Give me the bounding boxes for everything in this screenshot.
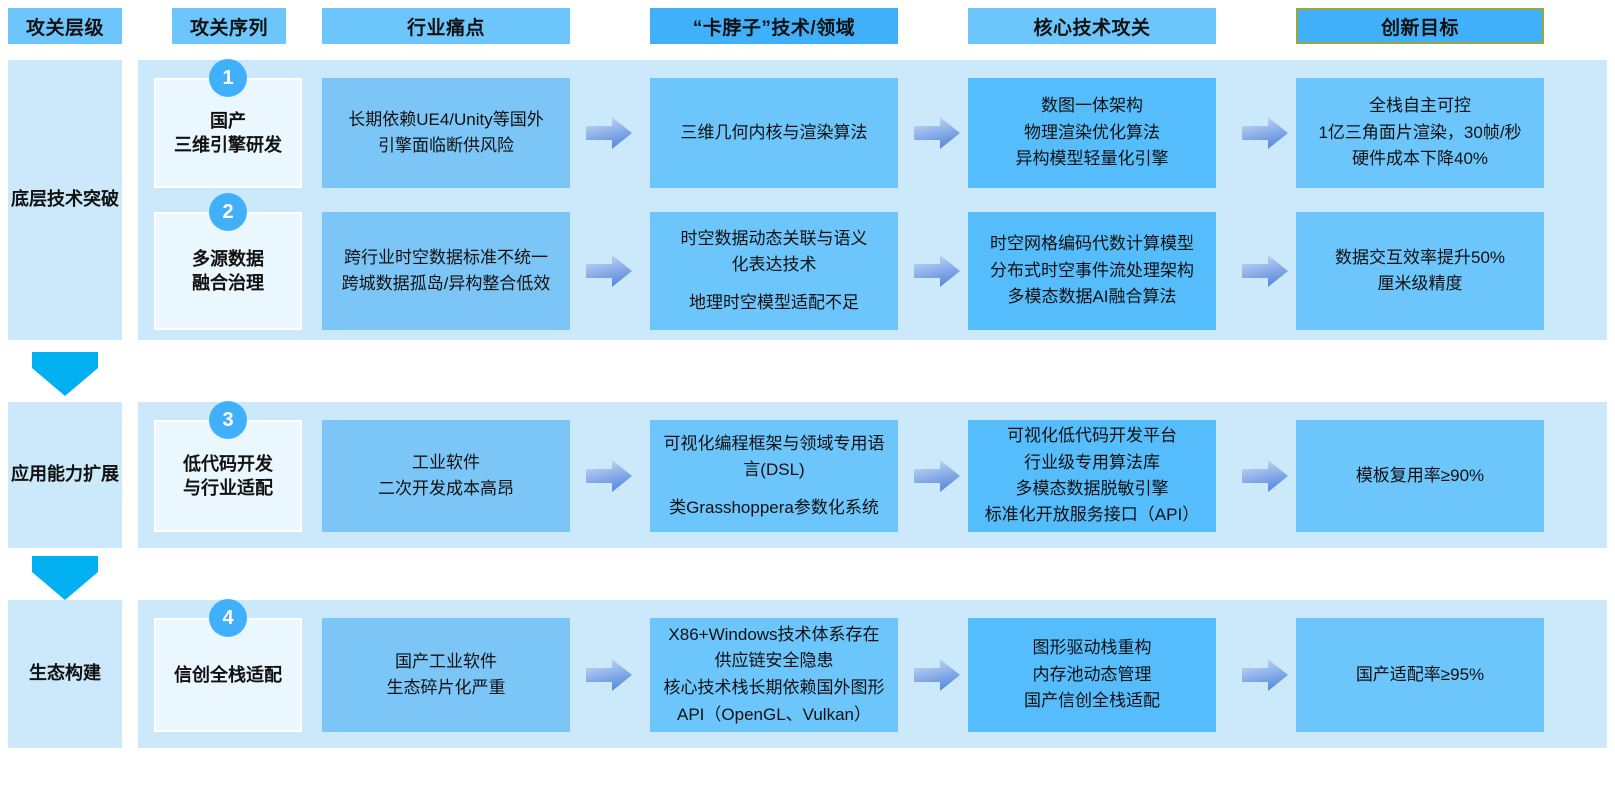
level-label-2: 应用能力扩展 [8, 402, 122, 548]
level-label-line: 底层技术 [11, 188, 83, 211]
sequence-card-label: 多源数据融合治理 [192, 247, 264, 296]
text-line: 物理渲染优化算法 [1024, 120, 1160, 146]
right-arrow-icon [914, 254, 960, 288]
text-line: 地理时空模型适配不足 [689, 290, 859, 316]
text-line: 信创全栈适配 [174, 663, 282, 687]
pain-point-box-2[interactable]: 跨行业时空数据标准不统一跨城数据孤岛/异构整合低效 [322, 212, 570, 330]
header-row: 攻关层级 攻关序列 行业痛点 “卡脖子”技术/领域 核心技术攻关 创新目标 [0, 0, 1615, 52]
text-line: 异构模型轻量化引擎 [1016, 146, 1169, 172]
level-label-1: 底层技术突破 [8, 60, 122, 340]
text-line: 低代码开发 [183, 452, 273, 476]
bottleneck-box-1[interactable]: 三维几何内核与渲染算法 [650, 78, 898, 188]
text-line: 数据交互效率提升50% [1335, 245, 1505, 271]
innovation-goal-box-2[interactable]: 数据交互效率提升50%厘米级精度 [1296, 212, 1544, 330]
text-line: 多源数据 [192, 247, 264, 271]
level-label-3: 生态构建 [8, 600, 122, 748]
text-line: 内存池动态管理 [1033, 662, 1152, 688]
core-tech-box-3[interactable]: 可视化低代码开发平台行业级专用算法库多模态数据脱敏引擎标准化开放服务接口（API… [968, 420, 1216, 532]
down-arrow-icon [32, 352, 98, 396]
right-arrow-icon [1242, 254, 1288, 288]
right-arrow-icon [1242, 459, 1288, 493]
level-label-line: 生态构建 [29, 662, 101, 685]
right-arrow-icon [914, 116, 960, 150]
level-label-line: 应用能力 [11, 463, 83, 486]
text-line: 核心技术栈长期依赖国外图形 [664, 675, 885, 701]
innovation-goal-box-1[interactable]: 全栈自主可控1亿三角面片渲染，30帧/秒硬件成本下降40% [1296, 78, 1544, 188]
text-line: 与行业适配 [183, 476, 273, 500]
level-label-line: 扩展 [83, 463, 119, 486]
header-bottleneck-tech: “卡脖子”技术/领域 [650, 8, 898, 44]
text-line: 厘米级精度 [1378, 271, 1463, 297]
text-line: 工业软件 [412, 450, 480, 476]
right-arrow-icon [914, 459, 960, 493]
text-line: 时空数据动态关联与语义 [681, 226, 868, 252]
step-number-badge-1: 1 [209, 59, 247, 97]
text-line: 分布式时空事件流处理架构 [990, 258, 1194, 284]
step-number-badge-4: 4 [209, 599, 247, 637]
bottleneck-box-2[interactable]: 时空数据动态关联与语义化表达技术地理时空模型适配不足 [650, 212, 898, 330]
text-line: 类Grasshoppera参数化系统 [669, 495, 879, 521]
text-line: 引擎面临断供风险 [378, 133, 514, 159]
text-line: 时空网格编码代数计算模型 [990, 231, 1194, 257]
text-line: 生态碎片化严重 [387, 675, 506, 701]
text-line: X86+Windows技术体系存在 [668, 622, 879, 648]
diagram-canvas: 攻关层级 攻关序列 行业痛点 “卡脖子”技术/领域 核心技术攻关 创新目标 底层… [0, 0, 1615, 791]
right-arrow-icon [586, 254, 632, 288]
pain-point-box-1[interactable]: 长期依赖UE4/Unity等国外引擎面临断供风险 [322, 78, 570, 188]
text-line: 模板复用率≥90% [1356, 463, 1484, 489]
text-line: 标准化开放服务接口（API） [985, 502, 1199, 528]
text-line: 硬件成本下降40% [1352, 146, 1488, 172]
text-line: 二次开发成本高昂 [378, 476, 514, 502]
bottleneck-box-3[interactable]: 可视化编程框架与领域专用语言(DSL)类Grasshoppera参数化系统 [650, 420, 898, 532]
text-line: 长期依赖UE4/Unity等国外 [348, 107, 544, 133]
text-line: 国产 [174, 109, 282, 133]
text-line: 国产工业软件 [395, 649, 497, 675]
header-innovation-goal: 创新目标 [1296, 8, 1544, 44]
level-label-line: 突破 [83, 188, 119, 211]
text-line: 多模态数据脱敏引擎 [1016, 476, 1169, 502]
bottleneck-box-4[interactable]: X86+Windows技术体系存在供应链安全隐患核心技术栈长期依赖国外图形API… [650, 618, 898, 732]
text-line: 国产信创全栈适配 [1024, 688, 1160, 714]
text-line: 可视化低代码开发平台 [1007, 423, 1177, 449]
sequence-card-label: 国产三维引擎研发 [174, 109, 282, 158]
text-line: 三维几何内核与渲染算法 [681, 120, 868, 146]
right-arrow-icon [1242, 658, 1288, 692]
text-line: 1亿三角面片渲染，30帧/秒 [1318, 120, 1521, 146]
header-pain-points: 行业痛点 [322, 8, 570, 44]
text-line: 跨城数据孤岛/异构整合低效 [342, 271, 551, 297]
text-line: 三维引擎研发 [174, 133, 282, 157]
down-arrow-icon [32, 556, 98, 600]
pain-point-box-4[interactable]: 国产工业软件生态碎片化严重 [322, 618, 570, 732]
sequence-card-label: 低代码开发与行业适配 [183, 452, 273, 501]
header-level: 攻关层级 [8, 8, 122, 44]
core-tech-box-1[interactable]: 数图一体架构物理渲染优化算法异构模型轻量化引擎 [968, 78, 1216, 188]
core-tech-box-4[interactable]: 图形驱动栈重构内存池动态管理国产信创全栈适配 [968, 618, 1216, 732]
text-line: API（OpenGL、Vulkan） [677, 702, 871, 728]
right-arrow-icon [1242, 116, 1288, 150]
text-line: 融合治理 [192, 271, 264, 295]
right-arrow-icon [914, 658, 960, 692]
step-number-badge-2: 2 [209, 193, 247, 231]
text-line: 多模态数据AI融合算法 [1007, 284, 1176, 310]
innovation-goal-box-4[interactable]: 国产适配率≥95% [1296, 618, 1544, 732]
text-line: 全栈自主可控 [1369, 93, 1471, 119]
text-line: 化表达技术 [732, 252, 817, 278]
text-line: 跨行业时空数据标准不统一 [344, 245, 548, 271]
sequence-card-label: 信创全栈适配 [174, 663, 282, 687]
header-core-tech: 核心技术攻关 [968, 8, 1216, 44]
right-arrow-icon [586, 116, 632, 150]
text-line: 言(DSL) [743, 457, 804, 483]
text-line: 图形驱动栈重构 [1033, 635, 1152, 661]
text-line: 国产适配率≥95% [1356, 662, 1484, 688]
core-tech-box-2[interactable]: 时空网格编码代数计算模型分布式时空事件流处理架构多模态数据AI融合算法 [968, 212, 1216, 330]
right-arrow-icon [586, 658, 632, 692]
header-sequence: 攻关序列 [172, 8, 286, 44]
text-line: 行业级专用算法库 [1024, 450, 1160, 476]
innovation-goal-box-3[interactable]: 模板复用率≥90% [1296, 420, 1544, 532]
text-line: 供应链安全隐患 [715, 648, 834, 674]
step-number-badge-3: 3 [209, 401, 247, 439]
text-line: 数图一体架构 [1041, 93, 1143, 119]
pain-point-box-3[interactable]: 工业软件二次开发成本高昂 [322, 420, 570, 532]
right-arrow-icon [586, 459, 632, 493]
text-line: 可视化编程框架与领域专用语 [664, 431, 885, 457]
